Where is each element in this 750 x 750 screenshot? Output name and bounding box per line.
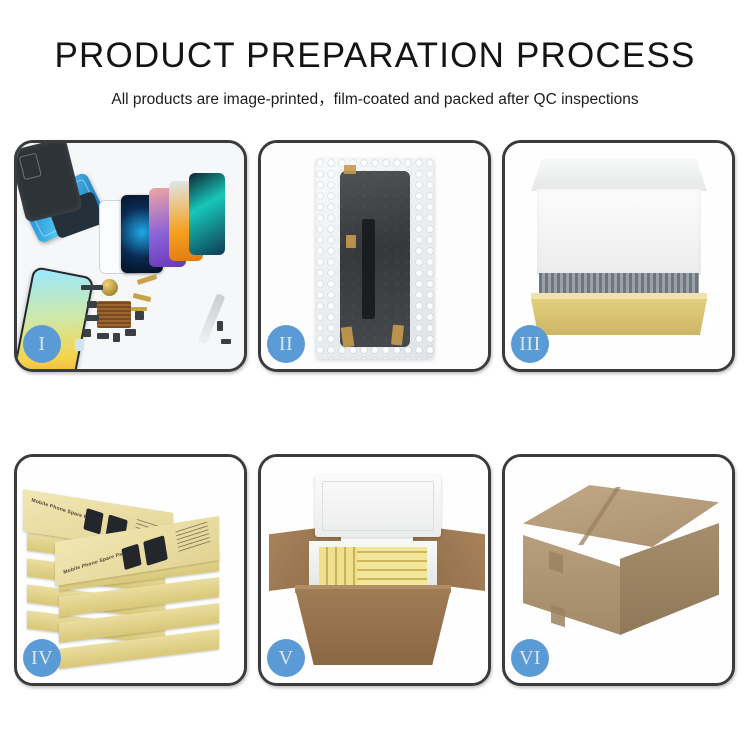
foam-cooler-lid-icon xyxy=(315,475,441,537)
step-badge-6: VI xyxy=(511,639,549,677)
box-label-b: Mobile Phone Spare Parts xyxy=(63,549,130,576)
step-badge-4: IV xyxy=(23,639,61,677)
process-step-panel-5[interactable]: V xyxy=(258,454,491,686)
step-badge-3: III xyxy=(511,325,549,363)
process-step-panel-2[interactable]: II xyxy=(258,140,491,372)
tape-icon xyxy=(346,235,356,248)
process-step-panel-1[interactable]: I xyxy=(14,140,247,372)
part-chip-icon xyxy=(83,329,91,337)
tape-icon xyxy=(344,165,356,174)
tape-icon xyxy=(391,324,404,345)
page-title: PRODUCT PREPARATION PROCESS xyxy=(0,38,750,73)
kraft-box-front-icon xyxy=(531,299,707,335)
logic-board-icon xyxy=(97,301,131,328)
part-chip-icon xyxy=(97,333,109,339)
wrapped-screen-icon xyxy=(340,171,410,347)
step-badge-1: I xyxy=(23,325,61,363)
part-chip-icon xyxy=(221,339,231,344)
process-step-grid: I II III xyxy=(14,140,736,686)
part-chip-icon xyxy=(113,333,120,342)
bubble-wrap-bag-icon xyxy=(316,159,434,359)
carton-body-icon xyxy=(295,589,451,665)
speaker-module-icon xyxy=(101,279,118,296)
part-chip-icon xyxy=(87,301,97,308)
part-chip-icon xyxy=(125,329,136,336)
phone-teal-icon xyxy=(189,173,225,255)
step-badge-5: V xyxy=(267,639,305,677)
part-chip-icon xyxy=(217,321,223,331)
foam-lid-icon xyxy=(531,159,707,191)
part-chip-icon xyxy=(81,285,103,290)
box-window-icon xyxy=(143,535,168,566)
box-window-icon xyxy=(83,508,103,535)
page-header: PRODUCT PREPARATION PROCESS All products… xyxy=(0,0,750,109)
process-step-panel-3[interactable]: III xyxy=(502,140,735,372)
process-step-panel-6[interactable]: VI xyxy=(502,454,735,686)
part-chip-icon xyxy=(85,315,99,321)
part-chip-icon xyxy=(135,311,144,320)
yellow-boxes-row-icon xyxy=(357,547,427,587)
screen-flex-cable-icon xyxy=(362,219,375,319)
foam-sheet-icon xyxy=(537,189,701,275)
flex-cable-icon xyxy=(131,307,147,311)
box-spec-lines xyxy=(175,522,210,553)
box-window-icon xyxy=(121,544,141,571)
part-chip-icon xyxy=(75,339,84,351)
process-step-panel-4[interactable]: Mobile Phone Spare Parts Mobile Phone Sp… xyxy=(14,454,247,686)
step-badge-2: II xyxy=(267,325,305,363)
page-subtitle: All products are image-printed，film-coat… xyxy=(0,87,750,109)
